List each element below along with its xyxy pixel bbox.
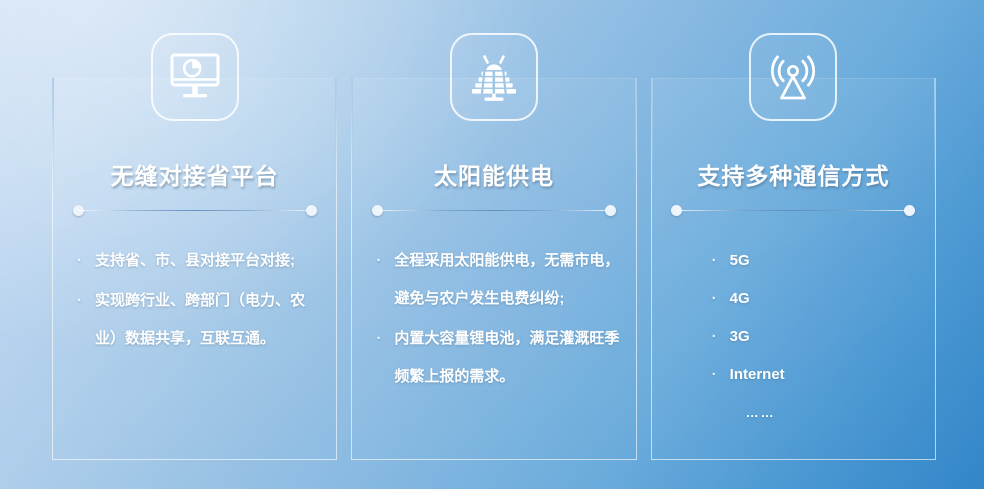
card-title: 无缝对接省平台 bbox=[111, 157, 279, 191]
list-item: · 内置大容量锂电池，满足灌溉旺季频繁上报的需求。 bbox=[376, 320, 619, 396]
solar-panel-icon bbox=[450, 33, 538, 121]
bullet-marker-icon: · bbox=[77, 282, 82, 320]
list-item: · 3G bbox=[712, 318, 935, 356]
list-item: · 全程采用太阳能供电，无需市电，避免与农户发生电费纠纷; bbox=[376, 242, 619, 318]
list-item: · 实现跨行业、跨部门（电力、农业）数据共享，互联互通。 bbox=[77, 282, 320, 358]
list-item-text: 内置大容量锂电池，满足灌溉旺季频繁上报的需求。 bbox=[394, 330, 619, 385]
list-item-text: 实现跨行业、跨部门（电力、农业）数据共享，互联互通。 bbox=[95, 292, 305, 347]
bullet-marker-icon: · bbox=[712, 356, 717, 394]
list-item-text: …… bbox=[746, 405, 776, 420]
card-title: 支持多种通信方式 bbox=[697, 157, 889, 191]
list-item: · 5G bbox=[712, 242, 935, 280]
list-item-text: 3G bbox=[730, 328, 750, 345]
feature-card-list: 无缝对接省平台 · 支持省、市、县对接平台对接; · 实现跨行业、跨部门（电力、… bbox=[52, 78, 936, 460]
card-title: 太阳能供电 bbox=[434, 157, 554, 191]
antenna-signal-icon bbox=[749, 33, 837, 121]
bullet-marker-icon: · bbox=[376, 320, 381, 358]
divider-dot-right bbox=[904, 205, 915, 216]
title-divider bbox=[372, 205, 616, 216]
list-item-more: …… bbox=[712, 394, 935, 432]
feature-card-platform[interactable]: 无缝对接省平台 · 支持省、市、县对接平台对接; · 实现跨行业、跨部门（电力、… bbox=[52, 78, 337, 460]
divider-line bbox=[78, 210, 312, 211]
list-item-text: 5G bbox=[730, 252, 750, 269]
card-bullet-list: · 全程采用太阳能供电，无需市电，避免与农户发生电费纠纷; · 内置大容量锂电池… bbox=[352, 242, 635, 398]
divider-line bbox=[377, 210, 611, 211]
list-item-text: Internet bbox=[730, 366, 785, 383]
card-bullet-list: · 支持省、市、县对接平台对接; · 实现跨行业、跨部门（电力、农业）数据共享，… bbox=[53, 242, 336, 360]
title-divider bbox=[73, 205, 317, 216]
monitor-pie-chart-icon bbox=[151, 33, 239, 121]
bullet-marker-icon: · bbox=[376, 242, 381, 280]
bullet-marker-icon: · bbox=[712, 242, 717, 280]
bullet-marker-icon: · bbox=[712, 280, 717, 318]
card-bullet-list: · 5G · 4G · 3G · Internet bbox=[652, 242, 935, 432]
divider-dot-right bbox=[306, 205, 317, 216]
feature-cards-banner: 无缝对接省平台 · 支持省、市、县对接平台对接; · 实现跨行业、跨部门（电力、… bbox=[0, 0, 984, 489]
divider-dot-right bbox=[605, 205, 616, 216]
list-item-text: 全程采用太阳能供电，无需市电，避免与农户发生电费纠纷; bbox=[394, 252, 619, 307]
list-item: · 4G bbox=[712, 280, 935, 318]
list-item-text: 支持省、市、县对接平台对接; bbox=[95, 252, 295, 269]
divider-line bbox=[676, 210, 910, 211]
bullet-marker-icon: · bbox=[77, 242, 82, 280]
list-item-text: 4G bbox=[730, 290, 750, 307]
list-item: · Internet bbox=[712, 356, 935, 394]
title-divider bbox=[671, 205, 915, 216]
feature-card-solar-power[interactable]: 太阳能供电 · 全程采用太阳能供电，无需市电，避免与农户发生电费纠纷; · 内置… bbox=[351, 78, 636, 460]
list-item: · 支持省、市、县对接平台对接; bbox=[77, 242, 320, 280]
feature-card-communication[interactable]: 支持多种通信方式 · 5G · 4G · bbox=[651, 78, 936, 460]
bullet-marker-icon: · bbox=[712, 318, 717, 356]
